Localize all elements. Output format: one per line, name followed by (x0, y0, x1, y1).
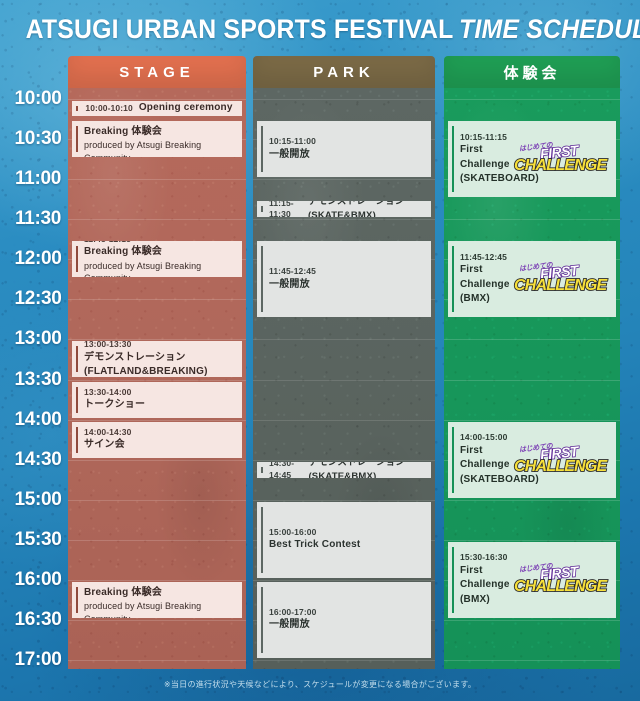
first-challenge-logo: はじめてのFIRSTCHALLENGE (514, 142, 610, 176)
event-title: First Challenge (460, 143, 514, 172)
event-row: 14:00-15:00First Challenge(SKATEBOARD)はじ… (460, 432, 612, 487)
event-accent-bar (261, 126, 263, 172)
gridline (68, 380, 246, 381)
time-label: 12:00 (6, 248, 70, 270)
event-accent-bar (76, 587, 78, 613)
event-subtitle: produced by Atsugi Breaking Community (84, 139, 234, 157)
event-accent-bar (261, 507, 263, 573)
event-time: 10:15-11:00 (269, 136, 423, 147)
gridline (444, 500, 620, 501)
event-title: First Challenge (460, 263, 514, 292)
gridline (444, 339, 620, 340)
gridline (253, 179, 435, 180)
event-title: 一般開放 (269, 618, 423, 633)
event-card[interactable]: 11:15-11:30デモンストレーション (SKATE&BMX) (257, 201, 431, 217)
gridline (68, 339, 246, 340)
page-title-main: ATSUGI URBAN SPORTS FESTIVAL (26, 14, 454, 44)
gridline (68, 219, 246, 220)
footnote: ※当日の進行状況や天候などにより、スケジュールが変更になる場合がございます。 (0, 679, 640, 690)
event-subtitle: (SKATEBOARD) (460, 473, 514, 488)
event-title: First Challenge (460, 444, 514, 473)
event-card[interactable]: 13:00-13:30デモンストレーション(FLATLAND&BREAKING) (72, 341, 242, 377)
event-subtitle: (FLATLAND&BREAKING) (84, 365, 234, 377)
column-header-taiken: 体験会 (444, 56, 620, 88)
event-time: 16:00-17:00 (269, 607, 423, 618)
event-title: デモンストレーション (SKATE&BMX) (308, 462, 423, 478)
event-time: 13:00-13:30 (84, 341, 234, 350)
event-card[interactable]: 10:15-10:45Breaking 体験会produced by Atsug… (72, 121, 242, 157)
time-label: 10:30 (6, 128, 70, 150)
first-challenge-logo: はじめてのFIRSTCHALLENGE (514, 262, 610, 296)
gridline (68, 500, 246, 501)
gridline (68, 179, 246, 180)
event-time: 10:15-11:15 (460, 132, 514, 143)
event-text: 15:30-16:30First Challenge(BMX) (460, 552, 514, 607)
event-card[interactable]: 14:30-14:45デモンストレーション (SKATE&BMX) (257, 462, 431, 478)
first-challenge-logo: はじめてのFIRSTCHALLENGE (514, 443, 610, 477)
event-accent-bar (261, 467, 263, 473)
event-accent-bar (452, 427, 454, 493)
time-label: 15:00 (6, 489, 70, 511)
event-title: Breaking 体験会 (84, 586, 234, 601)
time-label: 16:00 (6, 569, 70, 591)
event-time: 15:30-16:30 (460, 552, 514, 563)
gridline (444, 540, 620, 541)
time-label: 11:00 (6, 168, 70, 190)
event-title: デモンストレーション (SKATE&BMX) (308, 201, 423, 217)
first-challenge-logo: はじめてのFIRSTCHALLENGE (514, 563, 610, 597)
event-accent-bar (452, 126, 454, 192)
gridline (444, 380, 620, 381)
event-accent-bar (76, 427, 78, 453)
page-title-italic: TIME SCHEDULE (459, 14, 640, 44)
event-text: 11:45-12:45First Challenge(BMX) (460, 252, 514, 307)
event-subtitle: (BMX) (460, 292, 514, 307)
gridline (68, 420, 246, 421)
event-time: 14:00-14:30 (84, 427, 234, 438)
gridline (253, 380, 435, 381)
time-label: 14:00 (6, 409, 70, 431)
gridline (253, 420, 435, 421)
event-card[interactable]: 11:45-12:15Breaking 体験会produced by Atsug… (72, 241, 242, 277)
event-accent-bar (261, 206, 263, 212)
event-title: サイン会 (84, 438, 234, 453)
event-card[interactable]: 16:00-17:00一般開放 (257, 582, 431, 658)
gridline (253, 99, 435, 100)
time-label: 17:00 (6, 649, 70, 671)
gridline (253, 500, 435, 501)
time-label: 14:30 (6, 449, 70, 471)
gridline (444, 660, 620, 661)
event-accent-bar (76, 346, 78, 372)
gridline (253, 460, 435, 461)
logo-challenge-text: CHALLENGE (514, 458, 606, 476)
time-label: 10:00 (6, 88, 70, 110)
event-row: 11:45-12:45First Challenge(BMX)はじめてのFIRS… (460, 252, 612, 307)
event-subtitle: (BMX) (460, 593, 514, 608)
event-card[interactable]: 15:30-16:30First Challenge(BMX)はじめてのFIRS… (448, 542, 616, 618)
gridline (68, 580, 246, 581)
column-header-park: PARK (253, 56, 435, 88)
event-card[interactable]: 14:00-14:30サイン会 (72, 422, 242, 458)
event-accent-bar (76, 106, 78, 111)
event-time: 11:45-12:45 (269, 266, 423, 277)
gridline (444, 420, 620, 421)
event-title: デモンストレーション (84, 351, 234, 366)
event-title: Opening ceremony (139, 101, 233, 116)
time-label: 15:30 (6, 529, 70, 551)
event-title: 一般開放 (269, 278, 423, 293)
event-card[interactable]: 11:45-12:45First Challenge(BMX)はじめてのFIRS… (448, 241, 616, 317)
event-accent-bar (261, 246, 263, 312)
time-label: 13:30 (6, 369, 70, 391)
event-accent-bar (452, 547, 454, 613)
event-subtitle: produced by Atsugi Breaking Community (84, 600, 234, 618)
event-card[interactable]: 14:00-15:00First Challenge(SKATEBOARD)はじ… (448, 422, 616, 498)
gridline (253, 219, 435, 220)
logo-challenge-text: CHALLENGE (514, 157, 606, 175)
column-header-stage: STAGE (68, 56, 246, 88)
event-row: 10:15-11:15First Challenge(SKATEBOARD)はじ… (460, 132, 612, 187)
event-card[interactable]: 10:00-10:10Opening ceremony (72, 101, 242, 116)
event-card[interactable]: 11:45-12:45一般開放 (257, 241, 431, 317)
event-title: トークショー (84, 398, 234, 413)
event-title: Breaking 体験会 (84, 245, 234, 260)
time-label: 11:30 (6, 208, 70, 230)
time-label: 12:30 (6, 288, 70, 310)
event-time: 14:30-14:45 (269, 462, 301, 478)
event-subtitle: produced by Atsugi Breaking Community (84, 260, 234, 278)
gridline (253, 660, 435, 661)
logo-challenge-text: CHALLENGE (514, 277, 606, 295)
event-title: Best Trick Contest (269, 538, 423, 553)
event-accent-bar (76, 126, 78, 152)
gridline (68, 660, 246, 661)
logo-challenge-text: CHALLENGE (514, 578, 606, 596)
page-title: ATSUGI URBAN SPORTS FESTIVALTIME SCHEDUL… (26, 14, 615, 45)
event-title: First Challenge (460, 564, 514, 593)
event-time: 13:30-14:00 (84, 387, 234, 398)
gridline (444, 99, 620, 100)
time-label: 13:00 (6, 328, 70, 350)
event-row: 15:30-16:30First Challenge(BMX)はじめてのFIRS… (460, 552, 612, 607)
event-accent-bar (76, 387, 78, 413)
event-time: 11:45-12:45 (460, 252, 514, 263)
event-time: 10:00-10:10 (85, 103, 132, 114)
event-card[interactable]: 13:30-14:00トークショー (72, 382, 242, 418)
event-text: 14:00-15:00First Challenge(SKATEBOARD) (460, 432, 514, 487)
event-card[interactable]: 10:15-11:00一般開放 (257, 121, 431, 177)
gridline (68, 620, 246, 621)
event-time: 15:00-16:00 (269, 527, 423, 538)
gridline (253, 580, 435, 581)
gridline (444, 620, 620, 621)
event-time: 11:15-11:30 (269, 201, 301, 217)
event-subtitle: (SKATEBOARD) (460, 172, 514, 187)
event-accent-bar (261, 587, 263, 653)
gridline (68, 299, 246, 300)
event-card[interactable]: 10:15-11:15First Challenge(SKATEBOARD)はじ… (448, 121, 616, 197)
event-title: Breaking 体験会 (84, 125, 234, 140)
event-card[interactable]: 15:00-16:00Best Trick Contest (257, 502, 431, 578)
gridline (68, 540, 246, 541)
gridline (253, 339, 435, 340)
event-text: 10:15-11:15First Challenge(SKATEBOARD) (460, 132, 514, 187)
event-title: 一般開放 (269, 148, 423, 163)
event-accent-bar (76, 246, 78, 272)
gridline (68, 99, 246, 100)
time-label: 16:30 (6, 609, 70, 631)
event-accent-bar (452, 246, 454, 312)
event-time: 14:00-15:00 (460, 432, 514, 443)
gridline (444, 219, 620, 220)
gridline (68, 460, 246, 461)
event-card[interactable]: 16:00-16:30Breaking 体験会produced by Atsug… (72, 582, 242, 618)
